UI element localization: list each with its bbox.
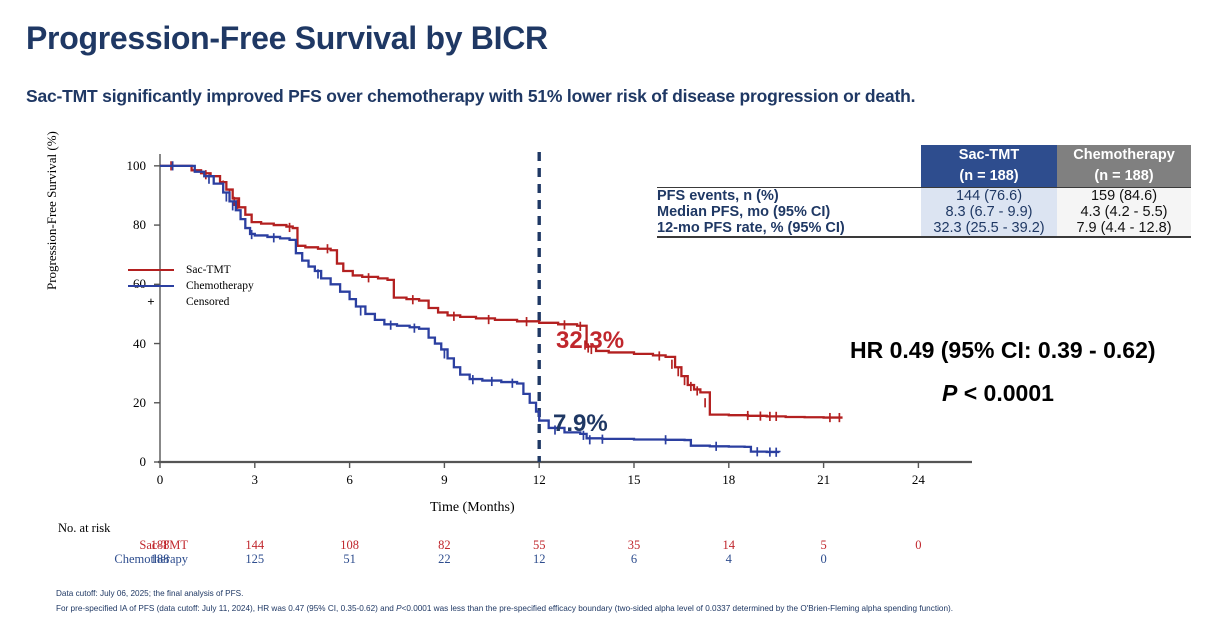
legend-label-sac: Sac-TMT <box>186 264 231 276</box>
legend-label-censored: Censored <box>186 296 229 308</box>
table-row: Median PFS, mo (95% CI) 8.3 (6.7 - 9.9) … <box>657 204 1191 220</box>
cell-chemo-median-pfs: 4.3 (4.2 - 5.5) <box>1057 204 1191 220</box>
table-header-row: Sac-TMT (n = 188) Chemotherapy (n = 188) <box>657 145 1191 188</box>
cell-sac-median-pfs: 8.3 (6.7 - 9.9) <box>921 204 1057 220</box>
x-tick-21: 21 <box>809 472 839 488</box>
col-header-sac: Sac-TMT (n = 188) <box>921 145 1057 188</box>
at-risk-value: 6 <box>617 552 651 567</box>
callout-chemo-12mo: 7.9% <box>553 410 608 438</box>
y-tick-20: 20 <box>106 395 146 411</box>
at-risk-value: 55 <box>522 538 556 553</box>
footnote-1: Data cutoff: July 06, 2025; the final an… <box>56 589 243 598</box>
col-header-chemo-n: (n = 188) <box>1057 166 1191 187</box>
slide-root: Progression-Free Survival by BICR Sac-TM… <box>0 0 1224 627</box>
col-header-sac-name: Sac-TMT <box>921 145 1057 166</box>
table-row: 12-mo PFS rate, % (95% CI) 32.3 (25.5 - … <box>657 220 1191 237</box>
y-tick-100: 100 <box>106 158 146 174</box>
callout-sac-12mo: 32.3% <box>556 327 624 355</box>
col-header-chemo: Chemotherapy (n = 188) <box>1057 145 1191 188</box>
col-header-chemo-name: Chemotherapy <box>1057 145 1191 166</box>
at-risk-value: 35 <box>617 538 651 553</box>
p-value-text: P < 0.0001 <box>942 380 1054 407</box>
legend-label-chemo: Chemotherapy <box>186 280 254 292</box>
legend-item-censored: + Censored <box>128 294 254 310</box>
x-tick-3: 3 <box>240 472 270 488</box>
hazard-ratio-text: HR 0.49 (95% CI: 0.39 - 0.62) <box>850 337 1156 364</box>
row-label-pfs-events: PFS events, n (%) <box>657 188 921 205</box>
at-risk-value: 0 <box>901 538 935 553</box>
at-risk-value: 51 <box>333 552 367 567</box>
y-tick-0: 0 <box>106 454 146 470</box>
x-tick-18: 18 <box>714 472 744 488</box>
at-risk-value: 125 <box>238 552 272 567</box>
table-row: PFS events, n (%) 144 (76.6) 159 (84.6) <box>657 188 1191 205</box>
cell-chemo-pfs-events: 159 (84.6) <box>1057 188 1191 205</box>
footnote-2: For pre-specified IA of PFS (data cutoff… <box>56 604 953 613</box>
page-title: Progression-Free Survival by BICR <box>26 20 548 57</box>
y-axis-label: Progression-Free Survival (%) <box>44 131 60 290</box>
x-tick-24: 24 <box>903 472 933 488</box>
cell-sac-12mo-rate: 32.3 (25.5 - 39.2) <box>921 220 1057 237</box>
y-tick-40: 40 <box>106 336 146 352</box>
cell-sac-pfs-events: 144 (76.6) <box>921 188 1057 205</box>
x-tick-9: 9 <box>429 472 459 488</box>
legend-item-sac: Sac-TMT <box>128 262 254 278</box>
at-risk-value: 22 <box>427 552 461 567</box>
p-italic: P <box>942 380 957 406</box>
x-tick-6: 6 <box>335 472 365 488</box>
x-tick-0: 0 <box>145 472 175 488</box>
x-tick-12: 12 <box>524 472 554 488</box>
at-risk-value: 14 <box>712 538 746 553</box>
at-risk-value: 188 <box>143 552 177 567</box>
cell-chemo-12mo-rate: 7.9 (4.4 - 12.8) <box>1057 220 1191 237</box>
at-risk-value: 188 <box>143 538 177 553</box>
at-risk-value: 108 <box>333 538 367 553</box>
row-label-median-pfs: Median PFS, mo (95% CI) <box>657 204 921 220</box>
at-risk-value: 12 <box>522 552 556 567</box>
col-header-sac-n: (n = 188) <box>921 166 1057 187</box>
chart-legend: Sac-TMT Chemotherapy + Censored <box>128 262 254 310</box>
y-tick-80: 80 <box>106 217 146 233</box>
p-rest: < 0.0001 <box>957 380 1054 406</box>
efficacy-summary-table: Sac-TMT (n = 188) Chemotherapy (n = 188)… <box>657 145 1191 238</box>
legend-swatch-chemo <box>128 285 174 287</box>
at-risk-value: 0 <box>807 552 841 567</box>
legend-swatch-sac <box>128 269 174 271</box>
at-risk-value: 4 <box>712 552 746 567</box>
at-risk-value: 5 <box>807 538 841 553</box>
page-subtitle: Sac-TMT significantly improved PFS over … <box>26 86 915 107</box>
x-tick-15: 15 <box>619 472 649 488</box>
at-risk-value: 82 <box>427 538 461 553</box>
table-corner-blank <box>657 145 921 188</box>
x-axis-label: Time (Months) <box>430 500 515 516</box>
legend-item-chemo: Chemotherapy <box>128 278 254 294</box>
at-risk-value: 144 <box>238 538 272 553</box>
row-label-12mo-rate: 12-mo PFS rate, % (95% CI) <box>657 220 921 237</box>
at-risk-title: No. at risk <box>58 521 110 536</box>
censored-plus-icon: + <box>128 294 174 310</box>
